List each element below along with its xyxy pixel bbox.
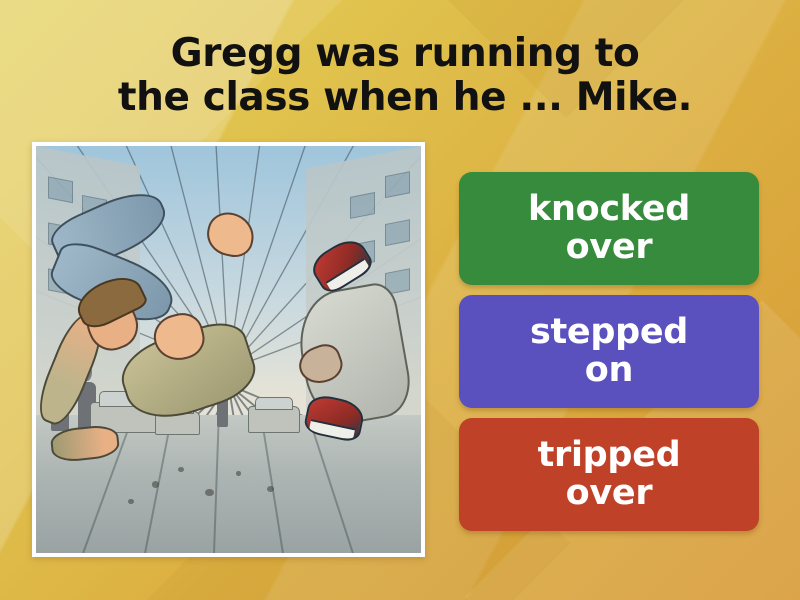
answer-options-list: knocked over stepped on tripped over [459, 172, 759, 531]
quiz-screen: Gregg was running to the class when he .… [0, 0, 800, 600]
raised-hand [203, 208, 257, 260]
question-text: Gregg was running to the class when he .… [60, 32, 750, 120]
answer-option-1[interactable]: knocked over [459, 172, 759, 285]
question-illustration [36, 146, 421, 553]
falling-man-figure [51, 203, 405, 529]
forward-arm [50, 423, 121, 463]
answer-option-3[interactable]: tripped over [459, 418, 759, 531]
question-image-frame [32, 142, 425, 557]
answer-option-2[interactable]: stepped on [459, 295, 759, 408]
